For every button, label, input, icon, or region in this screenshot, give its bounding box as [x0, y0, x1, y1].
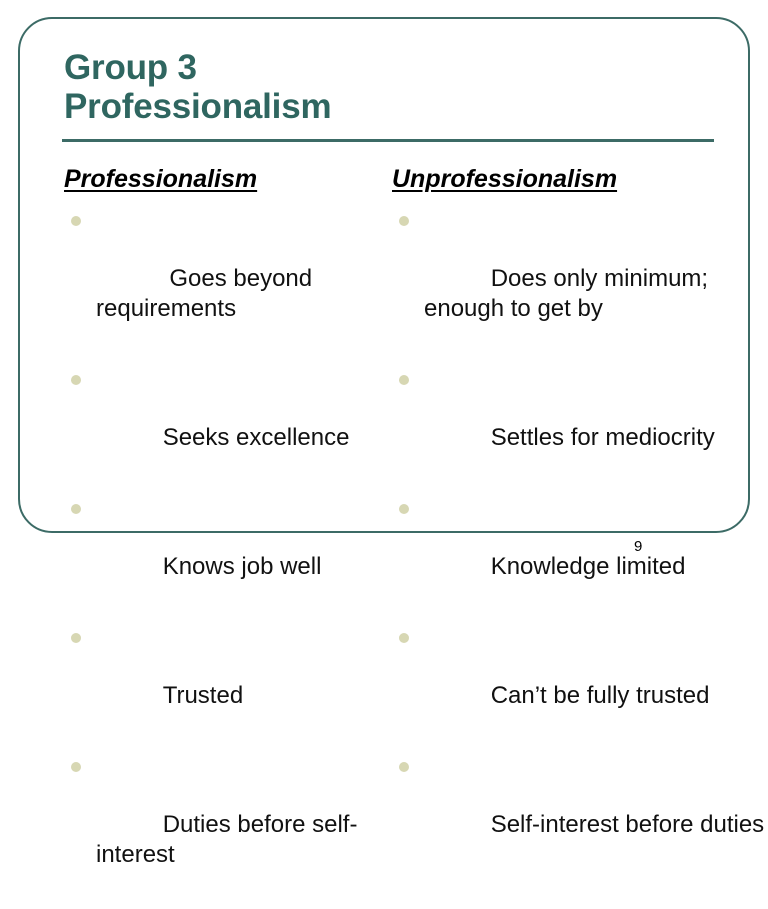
list-item-label: Trusted — [163, 682, 243, 709]
column-heading-professionalism: Professionalism — [64, 164, 257, 194]
bullet-dot-icon — [399, 762, 409, 772]
page-title-line-2: Professionalism — [64, 87, 704, 126]
bullet-list-professionalism: Goes beyond requirements Seeks excellenc… — [64, 204, 365, 900]
bullet-dot-icon — [71, 375, 81, 385]
bullet-list-unprofessionalism: Does only minimum; enough to get by Sett… — [392, 204, 768, 870]
list-item: Does only minimum; enough to get by — [392, 204, 768, 354]
list-item: Settles for mediocrity — [392, 363, 768, 483]
bullet-dot-icon — [71, 762, 81, 772]
list-item-label: Seeks excellence — [163, 424, 350, 451]
list-item: Seeks excellence — [64, 363, 365, 483]
page-title-line-1: Group 3 — [64, 48, 704, 87]
list-item-label: Settles for mediocrity — [491, 424, 715, 451]
list-item: Duties before self-interest — [64, 750, 365, 900]
list-item-label: Self-interest before duties — [491, 811, 764, 838]
column-professionalism: Professionalism Goes beyond requirements… — [0, 164, 365, 909]
title-divider — [62, 139, 714, 142]
bullet-dot-icon — [71, 504, 81, 514]
two-column-content: Professionalism Goes beyond requirements… — [0, 164, 768, 909]
bullet-dot-icon — [399, 504, 409, 514]
list-item-label: Does only minimum; enough to get by — [424, 265, 715, 322]
page-number: 9 — [634, 538, 642, 556]
bullet-dot-icon — [399, 216, 409, 226]
bullet-dot-icon — [399, 633, 409, 643]
bullet-dot-icon — [399, 375, 409, 385]
list-item: Trusted — [64, 621, 365, 741]
column-heading-unprofessionalism: Unprofessionalism — [392, 164, 617, 194]
slide-canvas: Group 3 Professionalism Professionalism … — [0, 0, 768, 576]
list-item: Knowledge limited — [392, 492, 768, 612]
list-item-label: Goes beyond requirements — [96, 265, 319, 322]
list-item-label: Duties before self-interest — [96, 811, 357, 868]
column-unprofessionalism: Unprofessionalism Does only minimum; eno… — [365, 164, 768, 879]
bullet-dot-icon — [71, 216, 81, 226]
list-item: Can’t be fully trusted — [392, 621, 768, 741]
list-item-label: Can’t be fully trusted — [491, 682, 710, 709]
bullet-dot-icon — [71, 633, 81, 643]
list-item: Goes beyond requirements — [64, 204, 365, 354]
list-item: Self-interest before duties — [392, 750, 768, 870]
list-item: Knows job well — [64, 492, 365, 612]
slide-title-block: Group 3 Professionalism — [64, 48, 704, 126]
